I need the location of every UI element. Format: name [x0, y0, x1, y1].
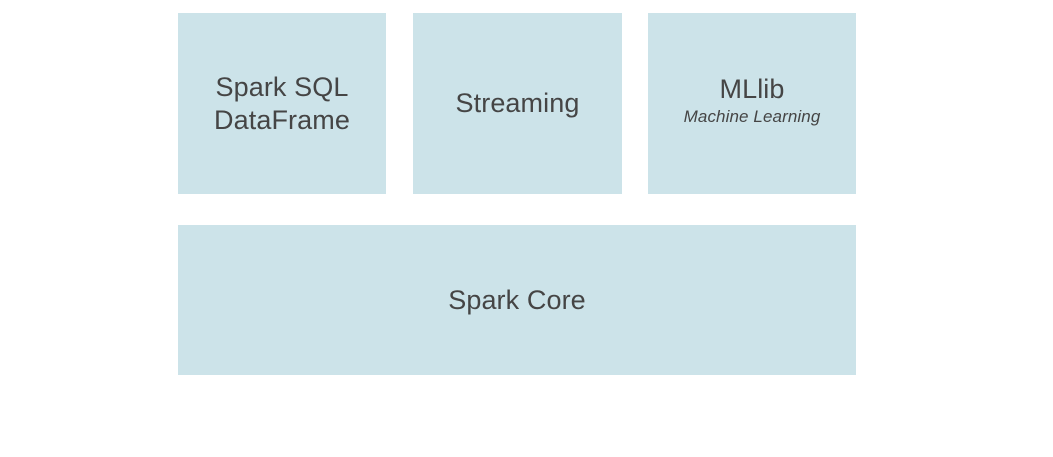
component-box-streaming: Streaming	[413, 13, 622, 194]
component-box-spark-core: Spark Core	[178, 225, 856, 375]
component-box-mllib: MLlib Machine Learning	[648, 13, 856, 194]
component-box-spark-sql: Spark SQL DataFrame	[178, 13, 386, 194]
component-subtitle-mllib: Machine Learning	[684, 107, 821, 128]
component-title-streaming: Streaming	[456, 87, 580, 120]
component-title-spark-sql: Spark SQL DataFrame	[214, 71, 350, 137]
spark-stack-diagram: Spark SQL DataFrame Streaming MLlib Mach…	[0, 0, 1053, 457]
component-title-spark-core: Spark Core	[448, 284, 586, 317]
component-title-mllib: MLlib	[719, 73, 784, 106]
